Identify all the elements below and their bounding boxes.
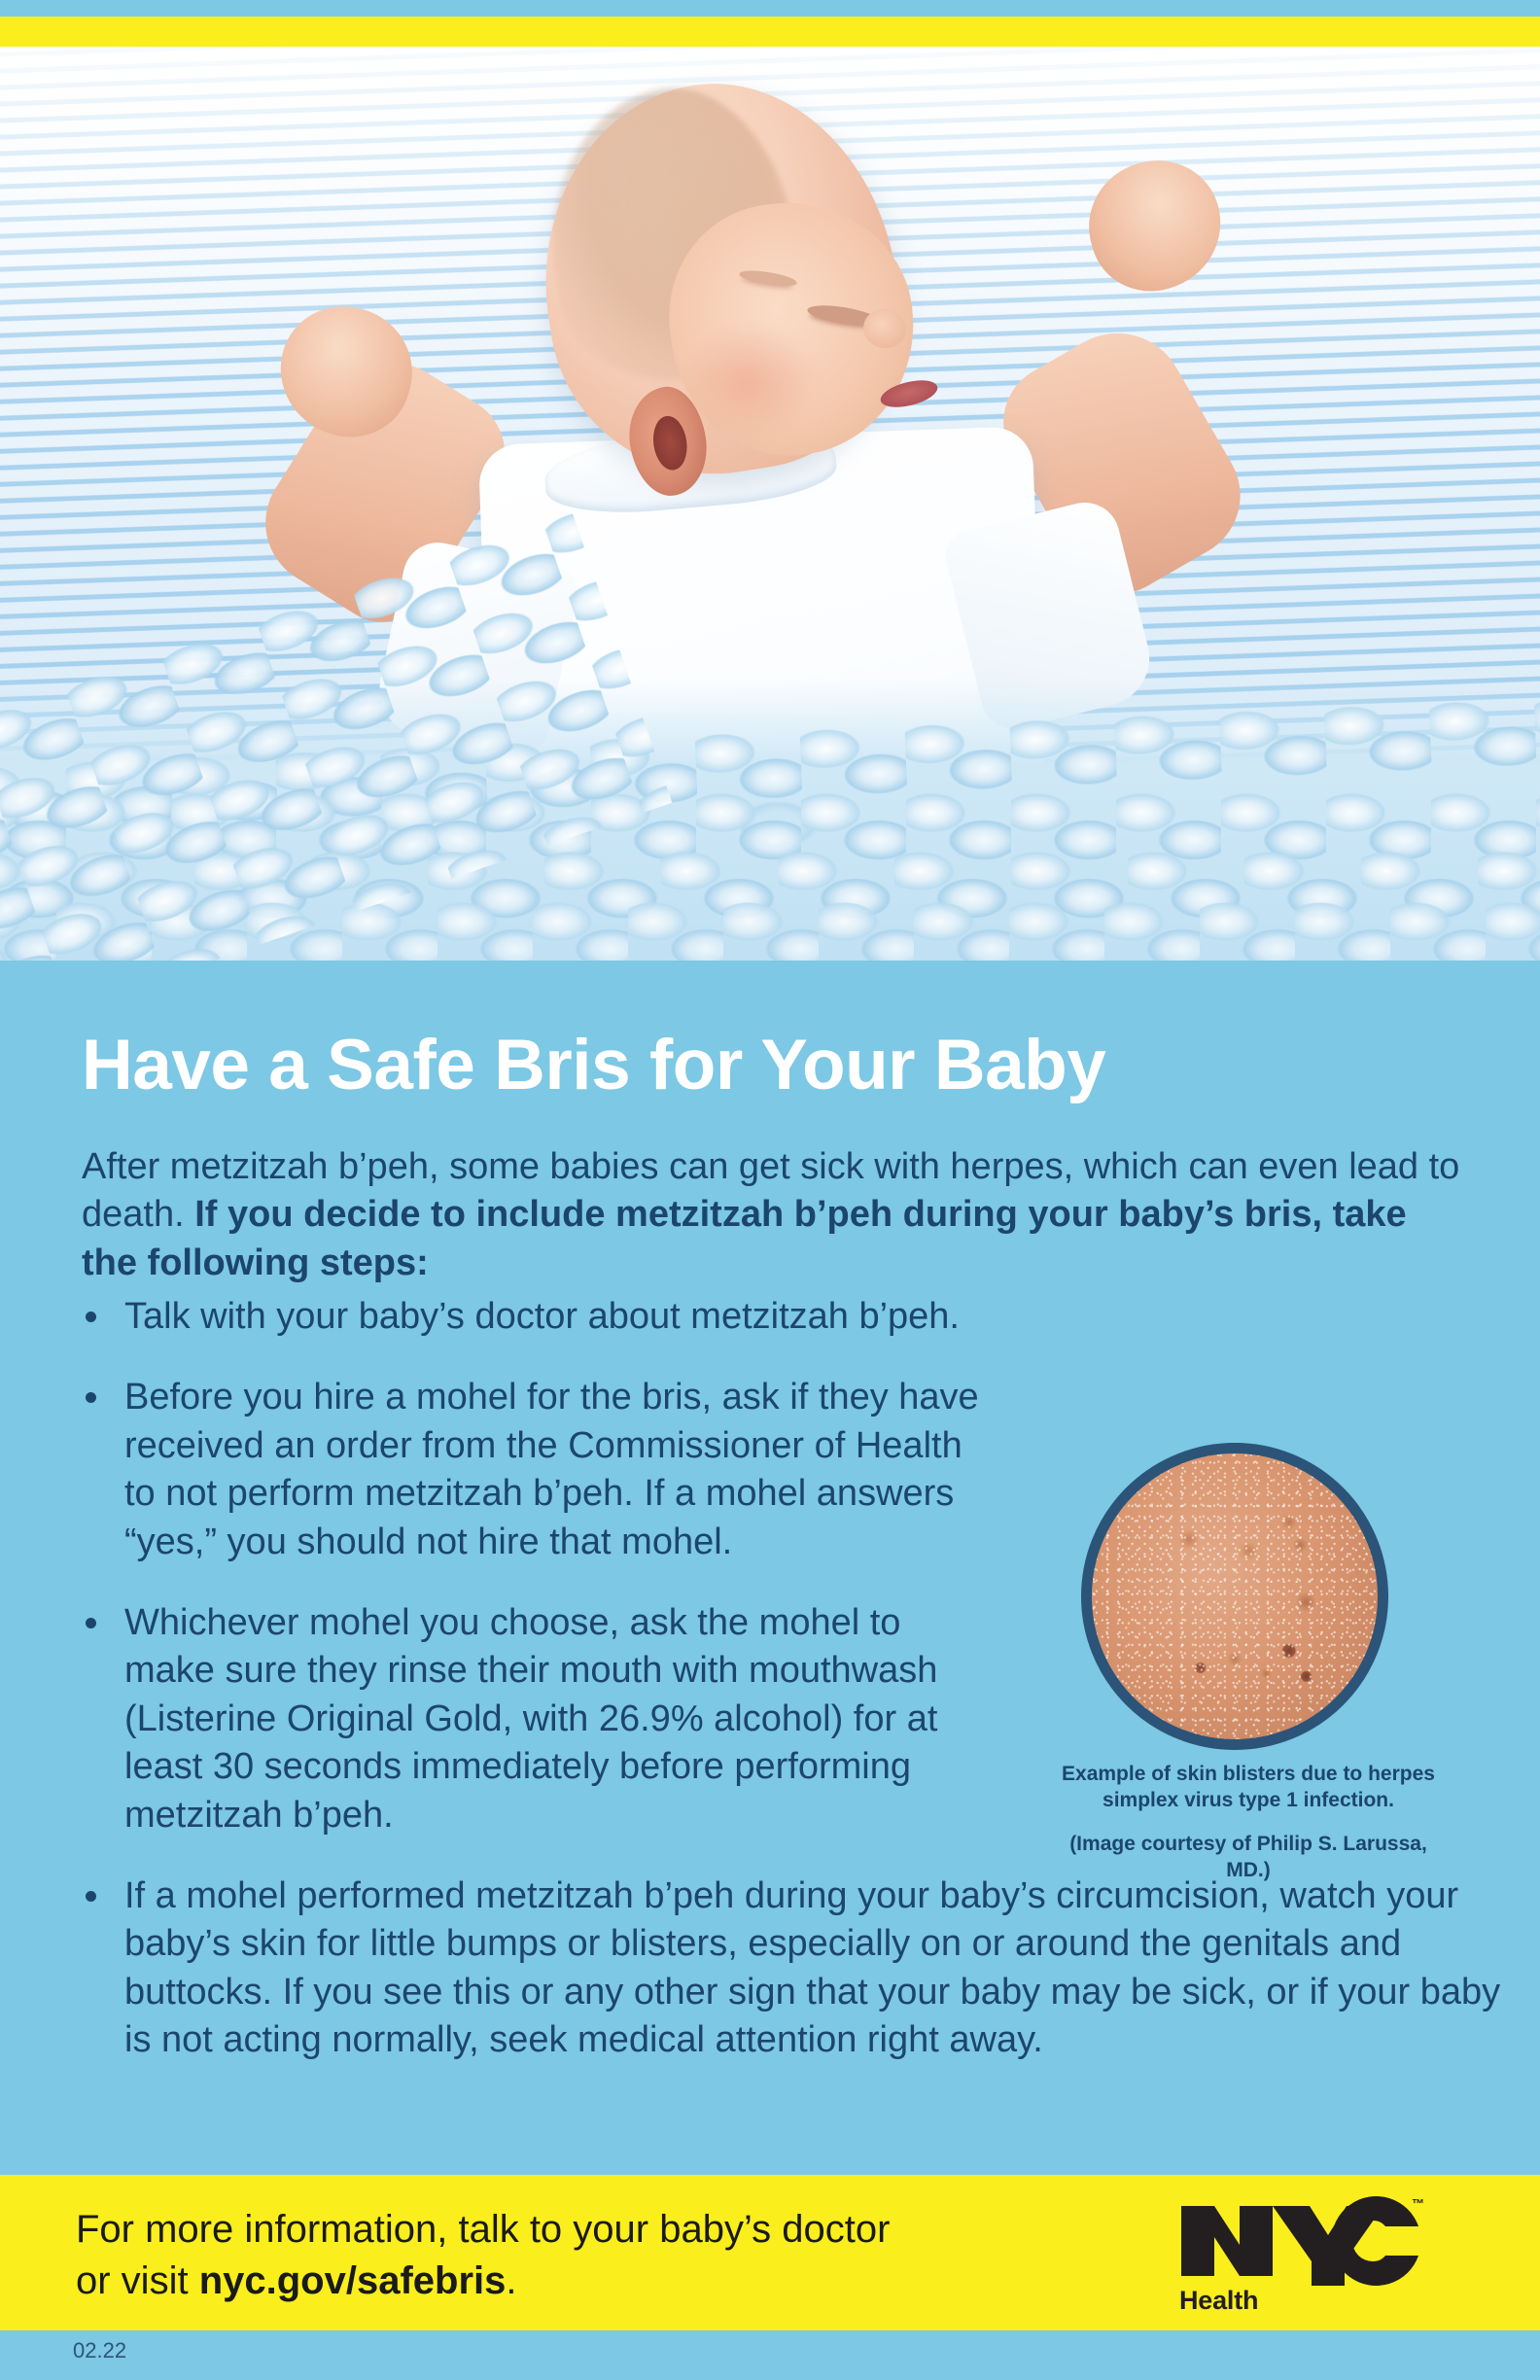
list-item: If a mohel performed metzitzah b’peh dur… bbox=[82, 1872, 1524, 2065]
nyc-health-logo: ™ Health bbox=[1179, 2196, 1422, 2315]
blister-photo-caption: Example of skin blisters due to herpes s… bbox=[1056, 1762, 1441, 1814]
skin-blisters-photo bbox=[1081, 1443, 1388, 1750]
trademark-symbol: ™ bbox=[1412, 2196, 1424, 2211]
safebris-url-link[interactable]: nyc.gov/safebris bbox=[199, 2259, 507, 2302]
blister-photo-credit: (Image courtesy of Philip S. Larussa, MD… bbox=[1056, 1832, 1441, 1884]
poster-root: Have a Safe Bris for Your Baby After met… bbox=[0, 0, 1540, 2380]
footer-line-1: For more information, talk to your baby’… bbox=[76, 2208, 890, 2251]
revision-date: 02.22 bbox=[73, 2338, 126, 2363]
footer-line-2-prefix: or visit bbox=[76, 2259, 199, 2302]
content-panel: Have a Safe Bris for Your Baby After met… bbox=[0, 961, 1540, 2175]
hero-baby-photo bbox=[0, 47, 1540, 961]
intro-bold-text: If you decide to include metzitzah b’peh… bbox=[82, 1194, 1407, 1282]
knit-blanket bbox=[0, 679, 1540, 961]
list-item: Talk with your baby’s doctor about metzi… bbox=[82, 1293, 980, 1341]
logo-health-wordmark: Health bbox=[1179, 2286, 1258, 2316]
top-accent-rule bbox=[0, 17, 1540, 47]
intro-paragraph: After metzitzah b’peh, some babies can g… bbox=[82, 1143, 1472, 1287]
footer-line-2-suffix: . bbox=[506, 2259, 516, 2302]
page-title: Have a Safe Bris for Your Baby bbox=[82, 1030, 1105, 1102]
list-item: Whichever mohel you choose, ask the mohe… bbox=[82, 1599, 980, 1839]
footer-message: For more information, talk to your baby’… bbox=[76, 2204, 1097, 2307]
list-item: Before you hire a mohel for the bris, as… bbox=[82, 1374, 980, 1566]
nyc-logo-mark-icon bbox=[1179, 2196, 1422, 2286]
footer-band: For more information, talk to your baby’… bbox=[0, 2175, 1540, 2330]
